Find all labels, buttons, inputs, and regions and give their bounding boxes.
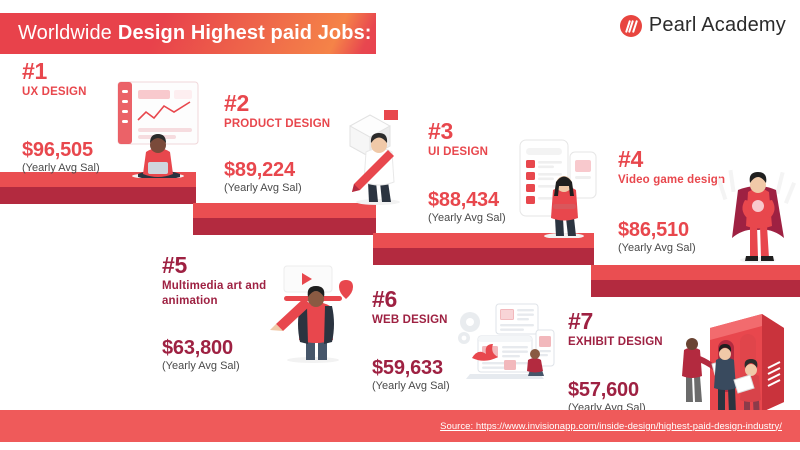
woman-with-laptop-dashboard-illustration — [110, 78, 206, 178]
superhero-woman-with-cape-illustration — [716, 164, 800, 270]
footer-bar: Source: https://www.invisionapp.com/insi… — [0, 410, 800, 442]
step-4-riser — [591, 280, 800, 297]
man-with-giant-pencil-and-video-player-illustration — [266, 262, 360, 368]
woman-with-box-and-pencil-illustration — [330, 100, 420, 208]
page-title-normal: Worldwide — [18, 22, 112, 45]
page-title-banner: Worldwide Design Highest paid Jobs: — [0, 13, 376, 54]
woman-with-mobile-screens-illustration — [512, 138, 604, 238]
page-title-bold: Design Highest paid Jobs: — [118, 22, 372, 45]
brand-logo: Pearl Academy — [620, 14, 786, 37]
step-1-riser — [0, 187, 196, 204]
brand-logo-text: Pearl Academy — [649, 14, 786, 37]
step-2-riser — [193, 218, 376, 235]
source-link[interactable]: Source: https://www.invisionapp.com/insi… — [440, 421, 782, 432]
people-at-exhibition-booth-illustration — [676, 306, 788, 422]
laptop-tablet-phone-webpages-illustration — [456, 300, 562, 392]
step-3-riser — [373, 248, 594, 265]
pearl-academy-circle-icon — [620, 15, 642, 37]
